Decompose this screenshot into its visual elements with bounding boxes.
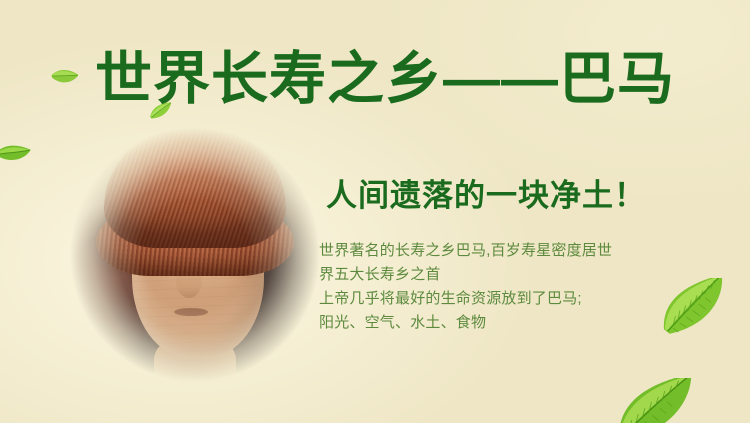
photo-mouth [174,308,208,316]
elderly-woman-photo [58,118,332,403]
body-copy: 世界著名的长寿之乡巴马,百岁寿星密度居世 界五大长寿乡之首 上帝几乎将最好的生命… [319,239,709,335]
leaf-icon-small-1 [48,64,78,94]
photo-vignette-mask [58,118,332,403]
body-line-2: 界五大长寿乡之首 [319,263,709,287]
page-title: 世界长寿之乡——巴马 [95,46,675,112]
leaf-icon-small-2 [147,100,175,122]
leaf-icon-large-2 [612,378,708,423]
body-line-3: 上帝几乎将最好的生命资源放到了巴马; [319,287,709,311]
body-line-4: 阳光、空气、水土、食物 [319,311,709,335]
page-subtitle: 人间遗落的一块净土！ [326,177,646,215]
body-line-1: 世界著名的长寿之乡巴马,百岁寿星密度居世 [319,239,709,263]
leaf-icon-small-3 [0,140,32,170]
leaf-icon-large-1 [655,278,739,338]
longevity-banner: 世界长寿之乡——巴马 人间遗落的一块净土！ 世界著名的长寿之乡巴马,百岁寿星密度… [0,0,750,423]
